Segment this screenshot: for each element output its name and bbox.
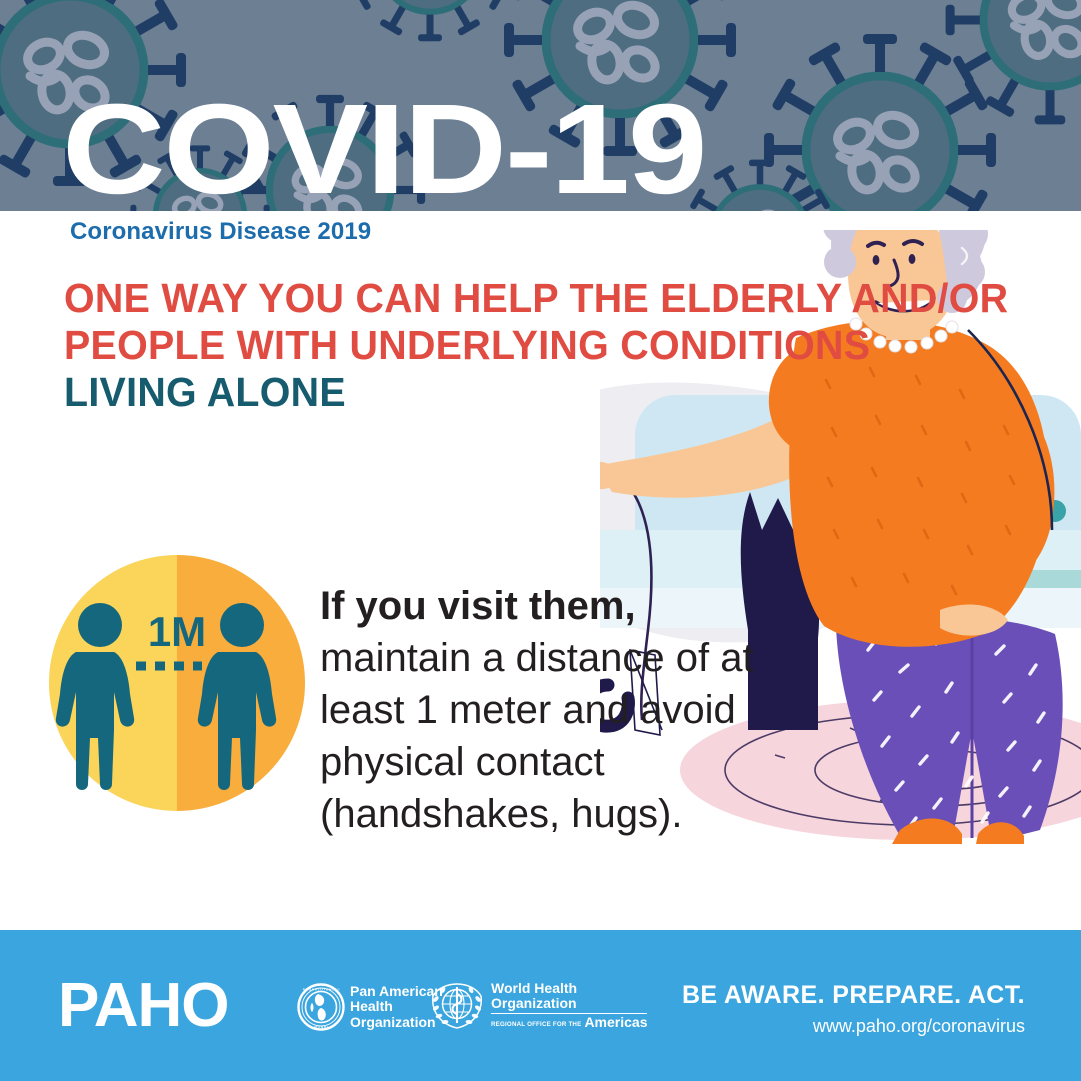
who-region: Americas	[584, 1015, 647, 1029]
americas-globe-shape	[311, 994, 326, 1021]
who-text: World Health Organization REGIONAL OFFIC…	[491, 981, 647, 1030]
body-rest: maintain a distance of at least 1 meter …	[320, 636, 754, 836]
who-logo-block: World Health Organization REGIONAL OFFIC…	[428, 978, 647, 1032]
distance-icon-svg: 1M	[46, 552, 308, 814]
headline-line-3: LIVING ALONE	[64, 369, 832, 416]
who-emblem-icon	[428, 978, 486, 1032]
footer-tagline: BE AWARE. PREPARE. ACT.	[682, 981, 1025, 1010]
who-regional-prefix: REGIONAL OFFICE FOR THE	[491, 1021, 581, 1029]
distance-label: 1M	[148, 608, 206, 655]
body-lead: If you visit them,	[320, 580, 790, 632]
paho-seal-icon: P R O S A L U T E N O V I M U N D I	[297, 983, 345, 1031]
svg-text:P R O S A L U T E N O V I: P R O S A L U T E N O V I	[303, 987, 340, 991]
svg-text:M U N D I: M U N D I	[314, 1025, 328, 1029]
page-subtitle: Coronavirus Disease 2019	[70, 218, 371, 246]
page-title: COVID-19	[62, 96, 705, 204]
covid19-infographic-poster: COVID-19 Coronavirus Disease 2019 ONE WA…	[0, 0, 1081, 1081]
pan-american-logo-block: P R O S A L U T E N O V I M U N D I Pan …	[297, 983, 443, 1031]
who-line-1: World Health	[491, 981, 647, 997]
headline-line-1: ONE WAY YOU CAN HELP THE ELDERLY AND/OR	[64, 275, 832, 322]
social-distance-1m-icon: 1M	[46, 552, 308, 814]
who-line-2: Organization	[491, 996, 647, 1012]
headline-block: ONE WAY YOU CAN HELP THE ELDERLY AND/OR …	[64, 275, 864, 416]
headline-line-2: PEOPLE WITH UNDERLYING CONDITIONS	[64, 322, 832, 369]
footer-url[interactable]: www.paho.org/coronavirus	[813, 1016, 1025, 1037]
paho-wordmark: PAHO	[58, 975, 229, 1037]
body-copy: If you visit them, maintain a distance o…	[320, 580, 790, 840]
